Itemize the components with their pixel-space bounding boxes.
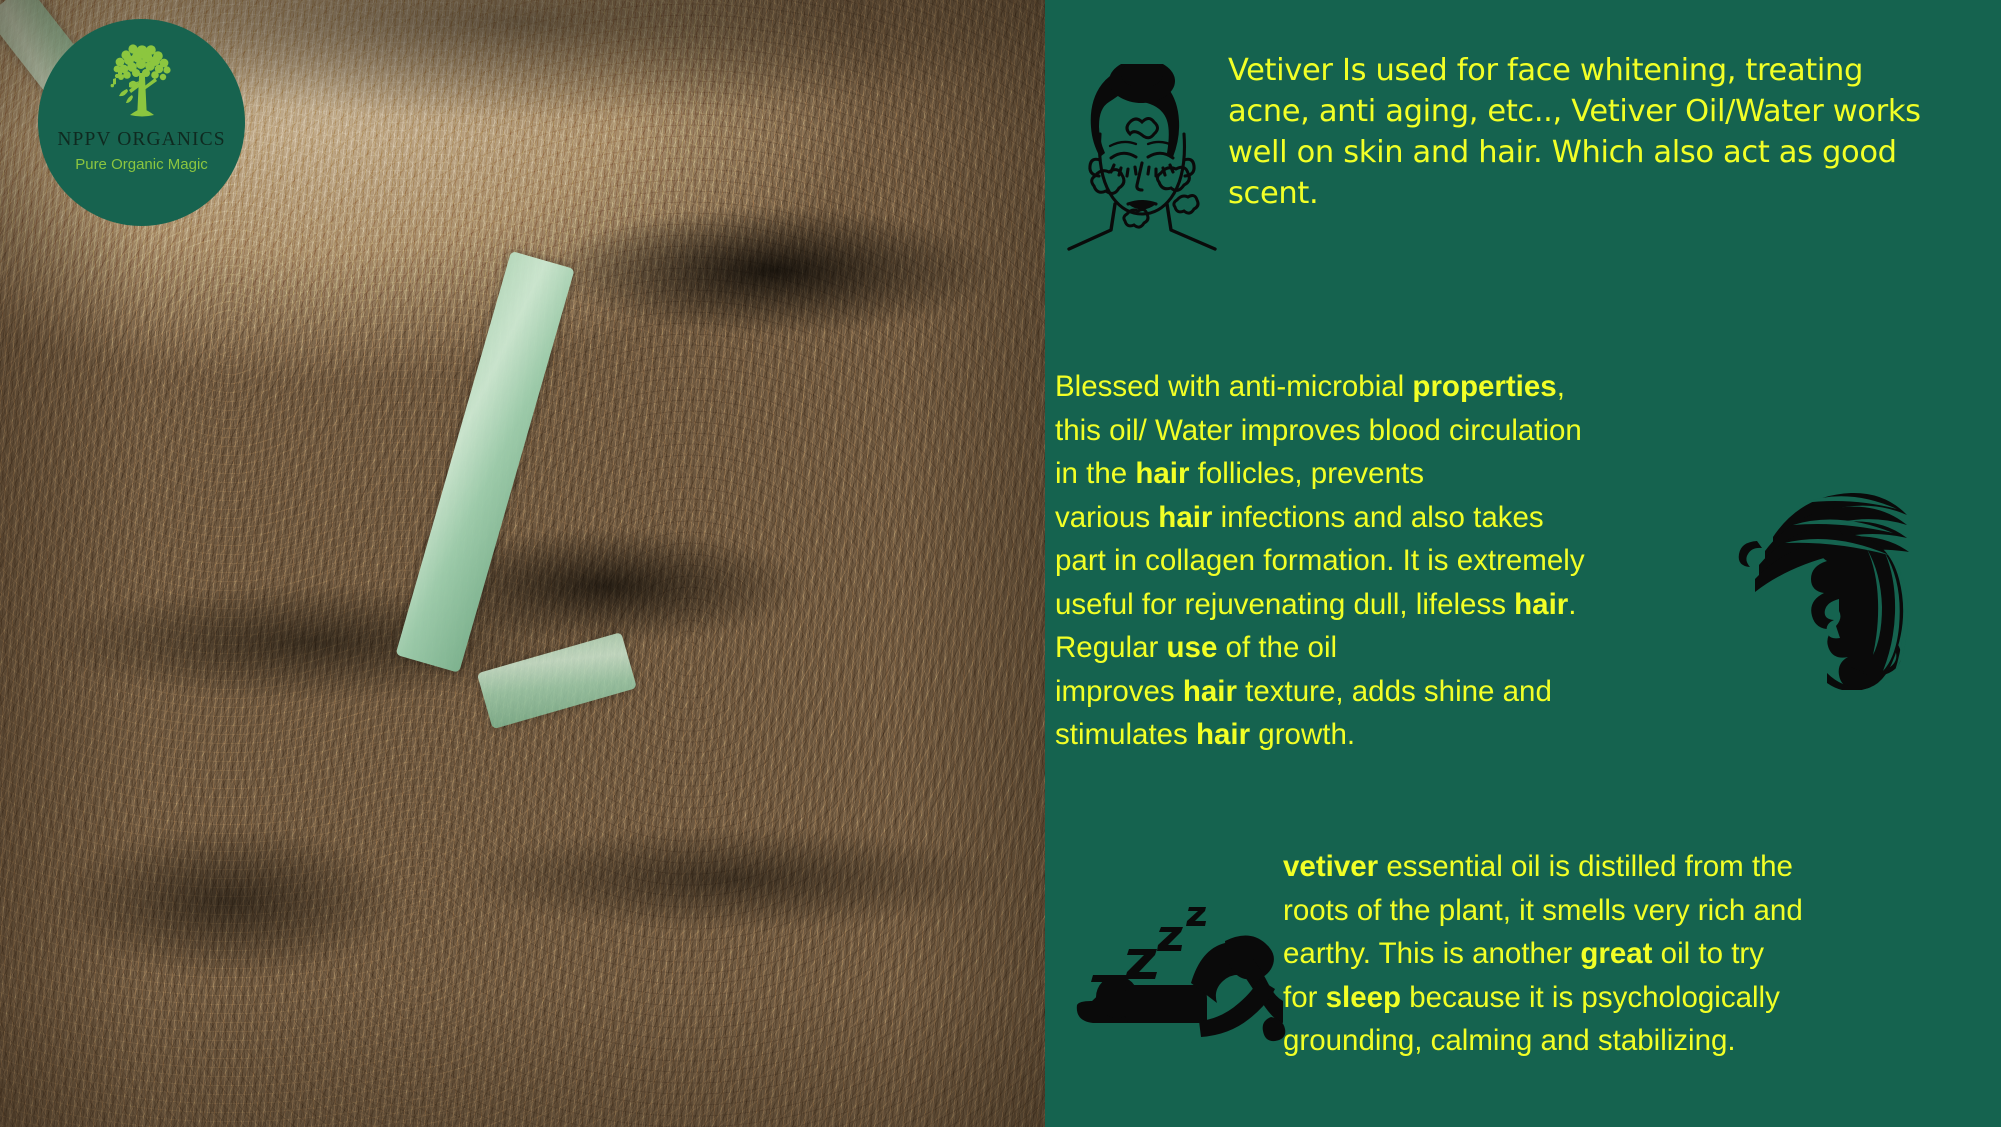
- tree-icon: [96, 37, 188, 123]
- logo-brand-name: NPPV ORGANICS: [57, 129, 225, 151]
- woman-face-skincare-icon: [1067, 64, 1217, 259]
- long-hair-silhouette-icon: [1735, 475, 1950, 690]
- sleeping-person-zzz-icon: [1073, 873, 1303, 1048]
- hair-benefit-text: Blessed with anti-microbial properties,t…: [1055, 365, 1755, 757]
- vetiver-benefits-infographic: NPPV ORGANICS Pure Organic Magic: [0, 0, 2001, 1127]
- sleep-benefit-text: vetiver essential oil is distilled from …: [1283, 845, 1983, 1063]
- logo-tagline: Pure Organic Magic: [75, 156, 208, 173]
- brand-logo-badge[interactable]: NPPV ORGANICS Pure Organic Magic: [38, 19, 245, 226]
- content-panel: Vetiver Is used for face whitening, trea…: [1045, 0, 2001, 1127]
- skin-benefit-text: Vetiver Is used for face whitening, trea…: [1228, 50, 1928, 214]
